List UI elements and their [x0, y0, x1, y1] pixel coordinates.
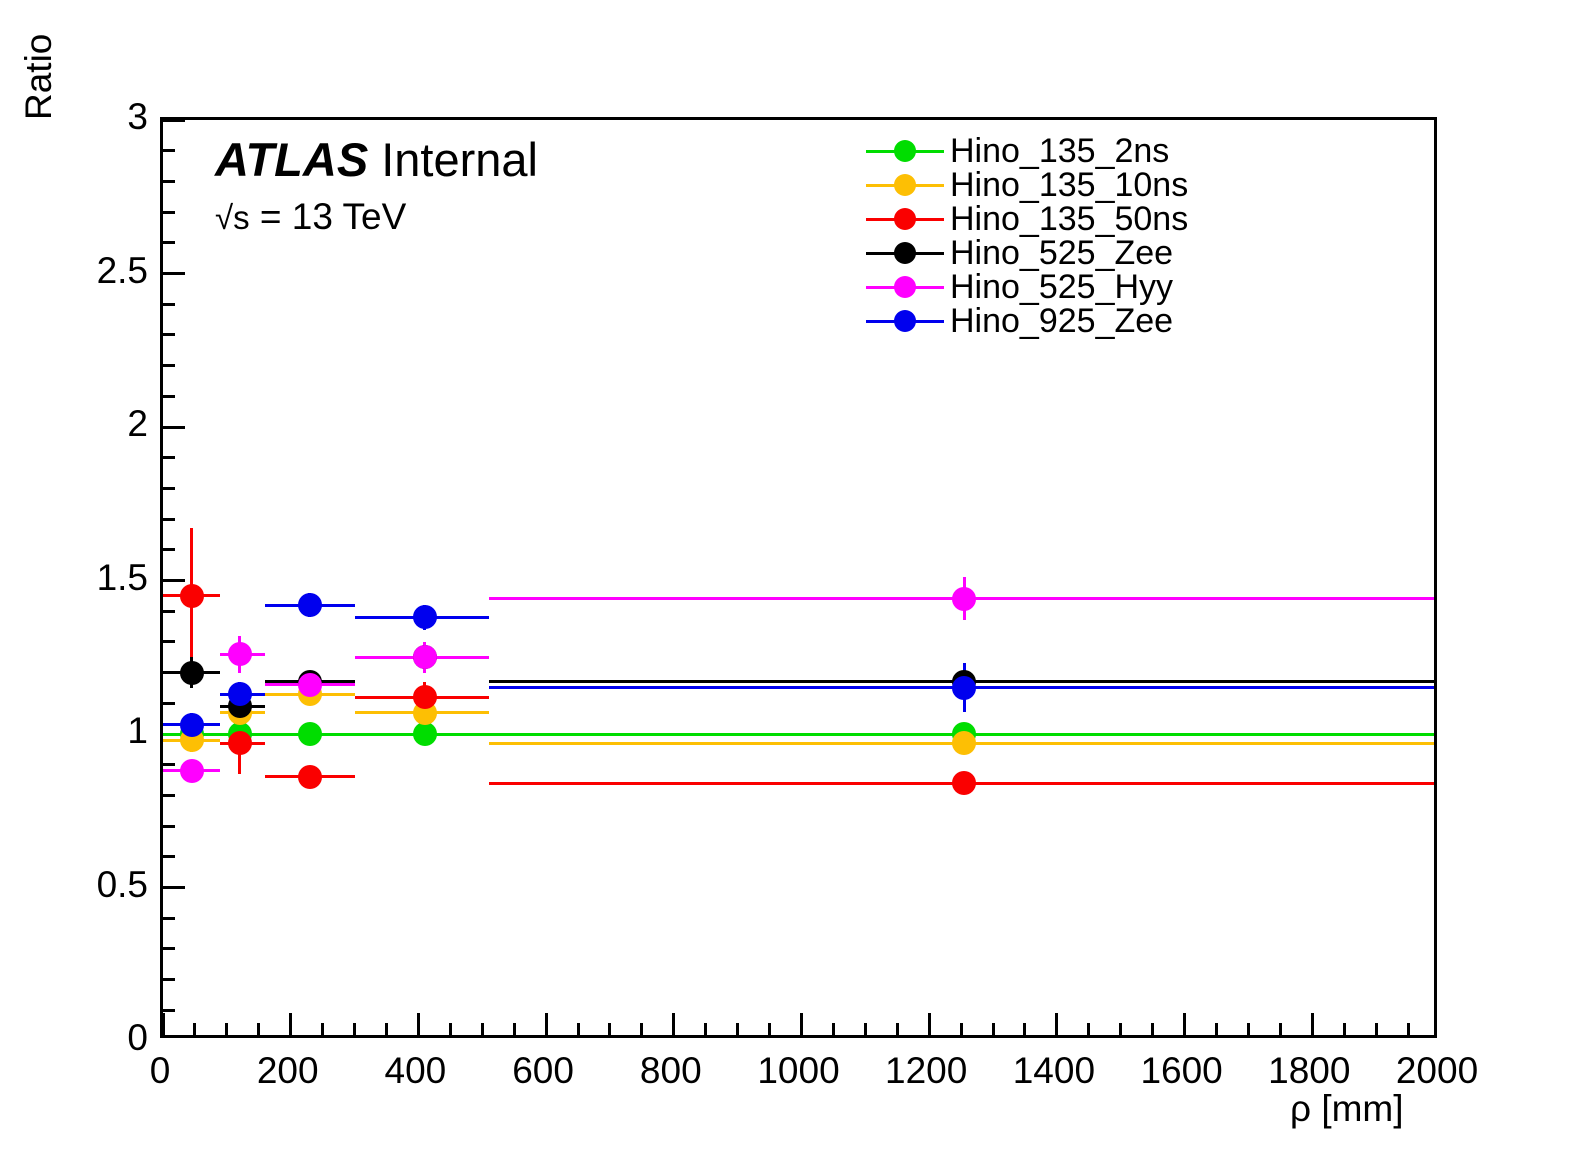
plot-frame [160, 117, 1437, 1038]
y-axis-tick-label: 1.5 [28, 559, 148, 596]
x-axis-minor-tick [481, 1023, 484, 1035]
x-axis-tick-label: 200 [218, 1052, 358, 1089]
x-axis-major-tick [289, 1013, 292, 1035]
x-axis-tick-label: 2000 [1367, 1052, 1507, 1089]
x-axis-minor-tick [736, 1023, 739, 1035]
x-axis-major-tick [1311, 1013, 1314, 1035]
y-axis-minor-tick [163, 917, 175, 920]
x-axis-minor-tick [257, 1023, 260, 1035]
y-axis-minor-tick [163, 456, 175, 459]
y-axis-minor-tick [163, 640, 175, 643]
x-axis-major-tick [800, 1013, 803, 1035]
data-point-marker [952, 731, 976, 755]
y-axis-minor-tick [163, 211, 175, 214]
y-axis-minor-tick [163, 855, 175, 858]
y-axis-minor-tick [163, 794, 175, 797]
y-axis-minor-tick [163, 702, 175, 705]
x-axis-minor-tick [1279, 1023, 1282, 1035]
x-axis-minor-tick [768, 1023, 771, 1035]
data-point-marker [952, 676, 976, 700]
x-axis-major-tick [545, 1013, 548, 1035]
x-axis-minor-tick [1023, 1023, 1026, 1035]
data-point-marker [228, 731, 252, 755]
data-point-marker [413, 722, 437, 746]
x-axis-minor-tick [1375, 1023, 1378, 1035]
x-axis-minor-tick [193, 1023, 196, 1035]
x-axis-minor-tick [1151, 1023, 1154, 1035]
y-axis-minor-tick [163, 548, 175, 551]
x-axis-major-tick [1055, 1013, 1058, 1035]
x-axis-tick-label: 400 [345, 1052, 485, 1089]
x-axis-minor-tick [640, 1023, 643, 1035]
data-point-marker [228, 682, 252, 706]
x-axis-tick-label: 800 [601, 1052, 741, 1089]
y-axis-minor-tick [163, 303, 175, 306]
chart-canvas: Ratio ρ [mm] ATLAS Internal √s = 13 TeV … [0, 0, 1596, 1172]
x-axis-minor-tick [1215, 1023, 1218, 1035]
y-axis-tick-label: 3 [28, 98, 148, 135]
x-axis-minor-tick [1119, 1023, 1122, 1035]
x-axis-minor-tick [704, 1023, 707, 1035]
data-point-marker [298, 722, 322, 746]
x-axis-tick-label: 1000 [729, 1052, 869, 1089]
x-axis-major-tick [928, 1013, 931, 1035]
data-point-marker [413, 645, 437, 669]
x-axis-minor-tick [1343, 1023, 1346, 1035]
x-axis-minor-tick [608, 1023, 611, 1035]
data-point-marker [298, 593, 322, 617]
x-axis-title: ρ [mm] [1290, 1088, 1404, 1130]
y-axis-minor-tick [163, 149, 175, 152]
y-axis-minor-tick [163, 825, 175, 828]
y-axis-minor-tick [163, 610, 175, 613]
y-axis-major-tick [163, 426, 185, 429]
x-axis-major-tick [417, 1013, 420, 1035]
x-axis-minor-tick [992, 1023, 995, 1035]
y-axis-major-tick [163, 272, 185, 275]
y-axis-minor-tick [163, 395, 175, 398]
x-axis-major-tick [1183, 1013, 1186, 1035]
x-axis-minor-tick [353, 1023, 356, 1035]
data-point-marker [180, 713, 204, 737]
y-axis-tick-label: 2 [28, 405, 148, 442]
data-point-marker [180, 759, 204, 783]
y-axis-minor-tick [163, 180, 175, 183]
x-axis-tick-label: 1200 [856, 1052, 996, 1089]
x-axis-minor-tick [960, 1023, 963, 1035]
x-axis-minor-tick [1407, 1023, 1410, 1035]
x-axis-minor-tick [864, 1023, 867, 1035]
x-axis-tick-label: 600 [473, 1052, 613, 1089]
x-axis-minor-tick [1247, 1023, 1250, 1035]
x-axis-minor-tick [832, 1023, 835, 1035]
y-axis-minor-tick [163, 763, 175, 766]
x-axis-minor-tick [321, 1023, 324, 1035]
data-point-marker [413, 605, 437, 629]
x-axis-minor-tick [225, 1023, 228, 1035]
x-axis-major-tick [163, 1013, 165, 1035]
y-axis-minor-tick [163, 487, 175, 490]
data-point-marker [180, 584, 204, 608]
data-point-marker [298, 673, 322, 697]
x-axis-minor-tick [385, 1023, 388, 1035]
y-axis-tick-label: 0 [28, 1019, 148, 1056]
y-axis-tick-label: 0.5 [28, 866, 148, 903]
y-axis-minor-tick [163, 978, 175, 981]
y-axis-minor-tick [163, 241, 175, 244]
plot-area [163, 120, 1434, 1035]
x-axis-minor-tick [449, 1023, 452, 1035]
x-axis-minor-tick [577, 1023, 580, 1035]
x-axis-minor-tick [1087, 1023, 1090, 1035]
data-point-marker [228, 642, 252, 666]
data-point-marker [298, 765, 322, 789]
x-axis-tick-label: 1400 [984, 1052, 1124, 1089]
data-point-marker [952, 771, 976, 795]
data-point-marker [952, 587, 976, 611]
x-axis-minor-tick [513, 1023, 516, 1035]
x-axis-tick-label: 1600 [1112, 1052, 1252, 1089]
y-axis-minor-tick [163, 1009, 175, 1012]
x-axis-minor-tick [896, 1023, 899, 1035]
y-axis-minor-tick [163, 364, 175, 367]
data-point-marker [180, 661, 204, 685]
x-axis-tick-label: 0 [90, 1052, 230, 1089]
y-axis-tick-label: 2.5 [28, 252, 148, 289]
y-axis-major-tick [163, 579, 185, 582]
y-axis-tick-label: 1 [28, 712, 148, 749]
x-axis-major-tick [672, 1013, 675, 1035]
x-axis-tick-label: 1800 [1239, 1052, 1379, 1089]
y-axis-major-tick [163, 886, 185, 889]
y-axis-minor-tick [163, 518, 175, 521]
y-axis-minor-tick [163, 333, 175, 336]
y-axis-minor-tick [163, 947, 175, 950]
y-axis-major-tick [163, 120, 185, 122]
data-point-marker [413, 685, 437, 709]
